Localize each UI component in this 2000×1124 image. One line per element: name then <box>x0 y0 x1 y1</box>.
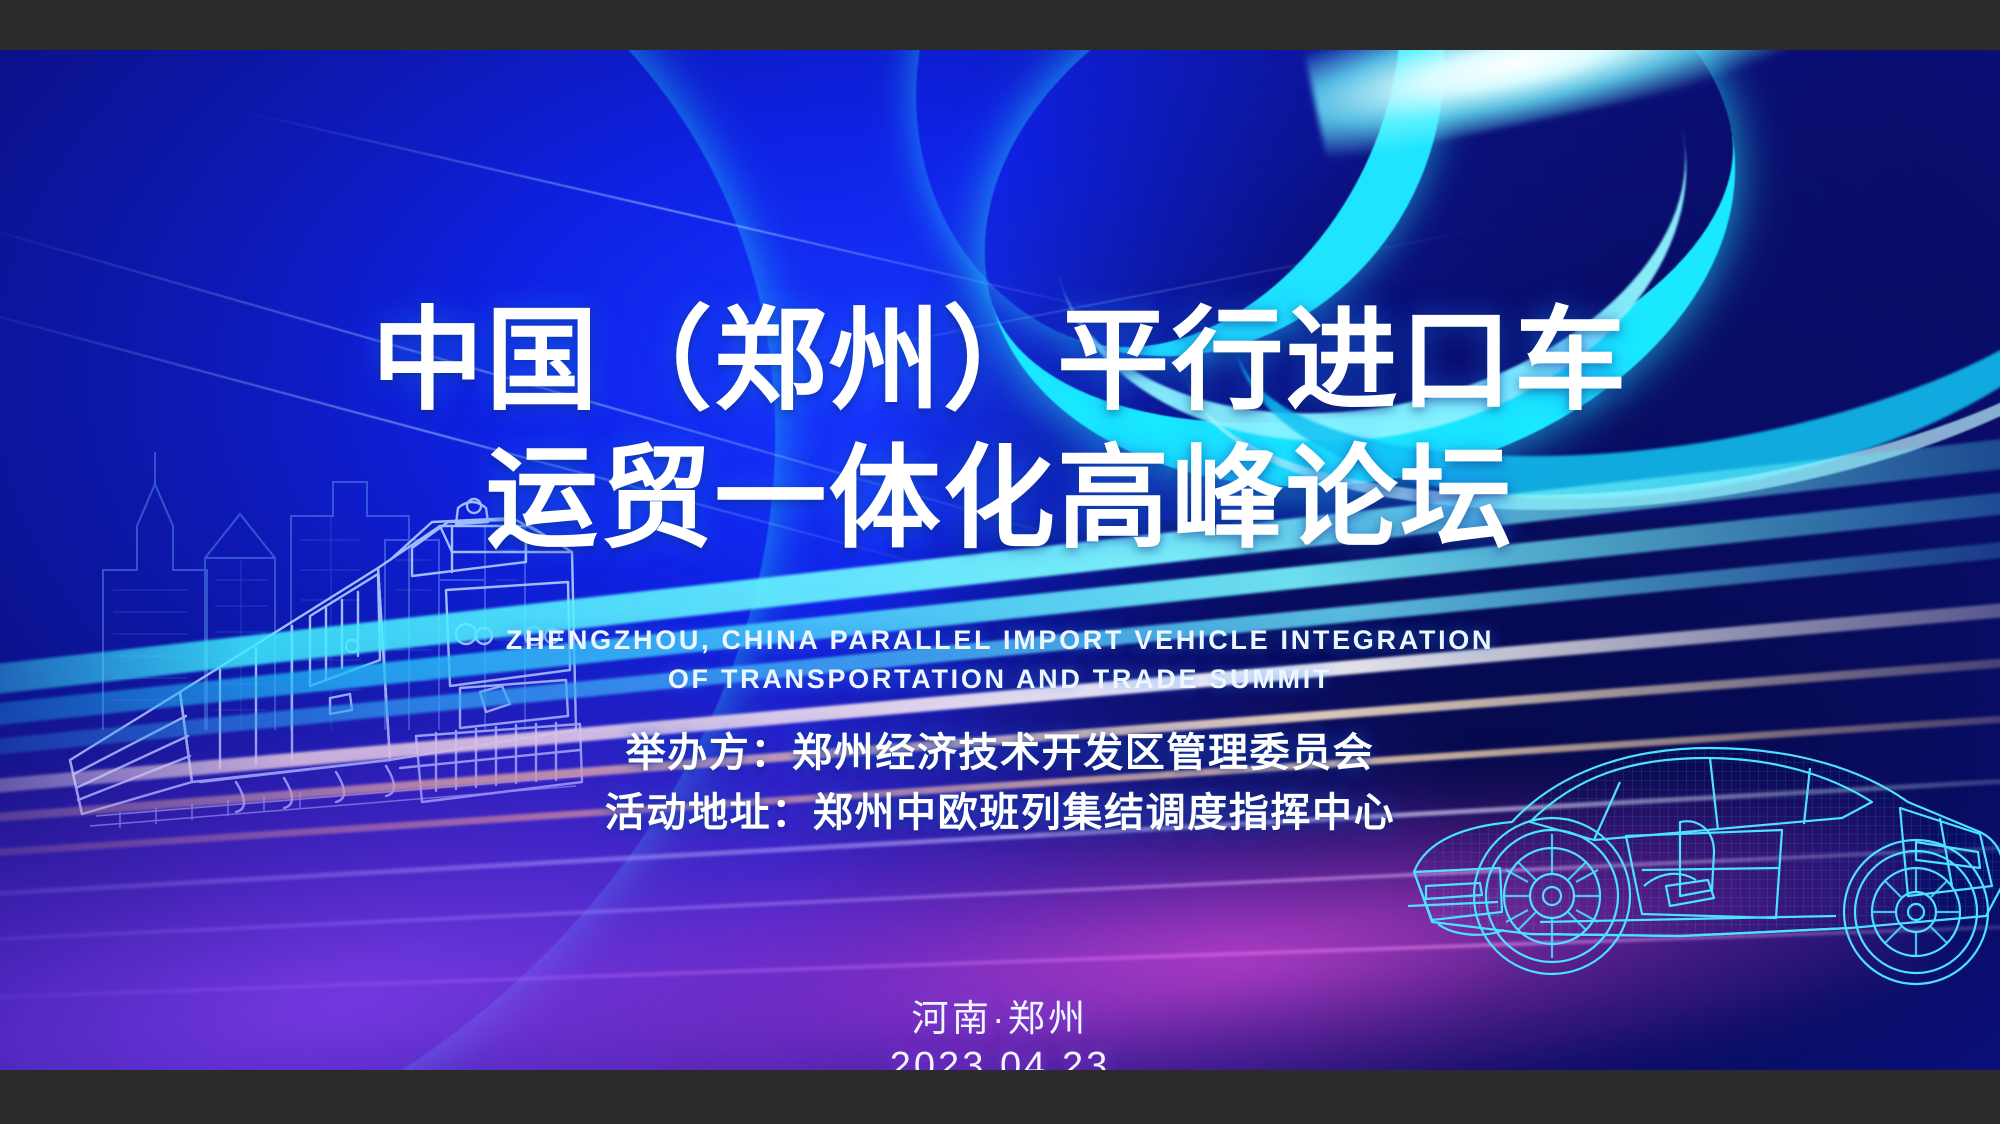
page-title-line-2: 运贸一体化高峰论坛 <box>0 440 2000 559</box>
venue-text: 活动地址：郑州中欧班列集结调度指挥中心 <box>0 780 2000 838</box>
page-title-line-1: 中国（郑州）平行进口车 <box>0 302 2000 421</box>
letterbox-bar-bottom <box>0 1070 2000 1124</box>
letterbox-bar-top <box>0 0 2000 50</box>
event-poster: 中国（郑州）平行进口车 运贸一体化高峰论坛 ZHENGZHOU, CHINA P… <box>0 50 2000 1070</box>
footer-location: 河南·郑州 <box>0 988 2000 1042</box>
screenshot-canvas: 中国（郑州）平行进口车 运贸一体化高峰论坛 ZHENGZHOU, CHINA P… <box>0 0 2000 1124</box>
subtitle-english-line-2: OF TRANSPORTATION AND TRADE SUMMIT <box>0 664 2000 695</box>
subtitle-english-line-1: ZHENGZHOU, CHINA PARALLEL IMPORT VEHICLE… <box>0 625 2000 656</box>
poster-text-layer: 中国（郑州）平行进口车 运贸一体化高峰论坛 ZHENGZHOU, CHINA P… <box>0 50 2000 1070</box>
footer-date: 2023.04.23 <box>0 1045 2000 1070</box>
organizer-text: 举办方：郑州经济技术开发区管理委员会 <box>0 720 2000 778</box>
